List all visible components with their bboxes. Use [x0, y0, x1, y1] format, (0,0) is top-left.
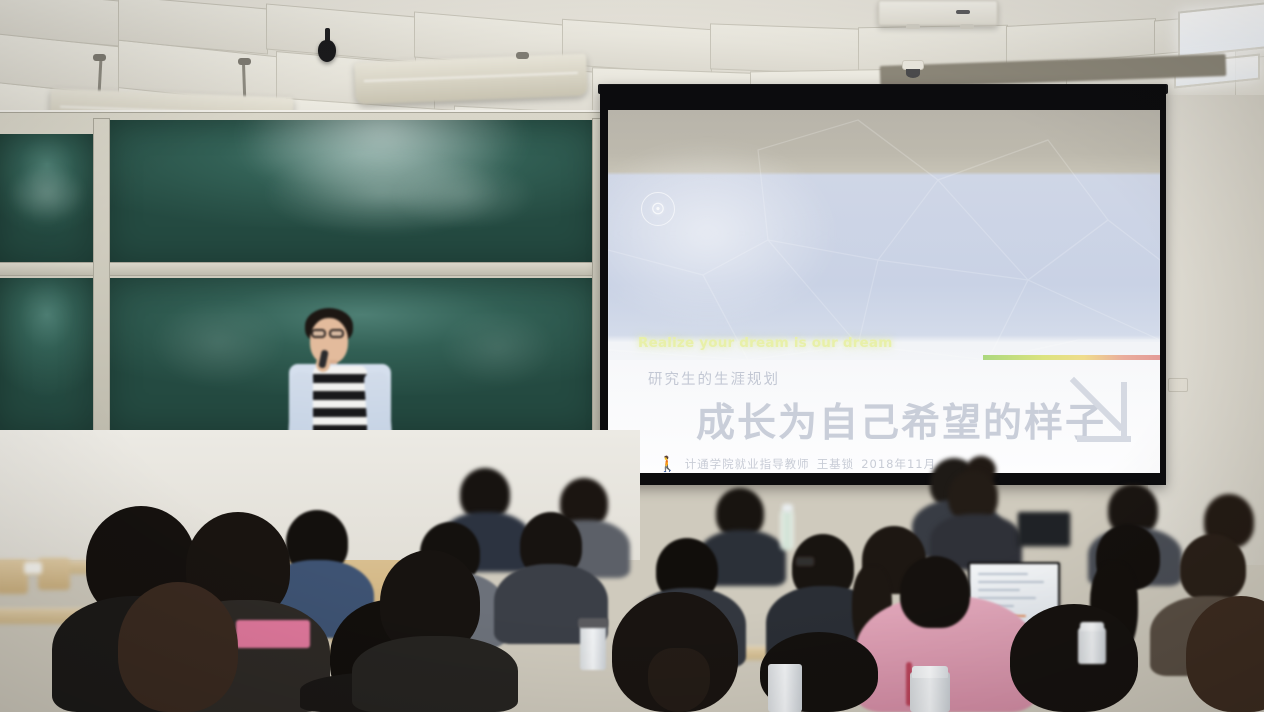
wall-outlet-icon: [1168, 378, 1188, 392]
presenter-head: [310, 318, 348, 364]
empty-chair-2: [38, 558, 70, 590]
thermos-flask-icon-3: [1078, 628, 1106, 664]
ceiling-mounted-speaker-icon: [318, 40, 336, 62]
recessed-light-panel-icon: [1178, 0, 1264, 57]
slide-byline-name: 王基锁: [817, 456, 855, 472]
slide-byline-date: 2018年11月: [861, 456, 936, 472]
thermos-cap-1: [912, 666, 948, 678]
hanging-fluorescent-fixture-right: [354, 54, 587, 105]
laptop-icon-far: [1018, 512, 1070, 546]
thermos-flask-icon-1: [910, 672, 950, 712]
lecture-hall-photo: ☉ Realize your dream is our dream 研究生的生涯…: [0, 0, 1264, 712]
chalkboard-panel-bottom-left: [0, 278, 93, 430]
audience-head-mid-8: [1180, 534, 1246, 602]
audience-eyeglasses-icon: [795, 556, 815, 567]
projection-screen: ☉ Realize your dream is our dream 研究生的生涯…: [600, 85, 1166, 485]
eyeglasses-icon-right: [329, 329, 344, 338]
fixture-rod-cap-right: [238, 58, 251, 65]
projector-foot-a: [906, 24, 920, 29]
projector-lens-icon: [956, 10, 970, 14]
audience-head-front-8: [1010, 604, 1138, 712]
bottle-cap-audience-1: [782, 504, 793, 512]
presentation-slide: ☉ Realize your dream is our dream 研究生的生涯…: [608, 110, 1160, 473]
slide-subtitle: 研究生的生涯规划: [648, 368, 780, 389]
thermos-cap-3: [1080, 622, 1104, 631]
fixture-rod-cap-right2: [516, 52, 529, 59]
audience-ponytail-front: [648, 648, 710, 712]
slide-title: 成长为自己希望的样子: [696, 392, 1106, 448]
fixture-rod-cap-left: [93, 54, 106, 61]
arrow-down-right-icon: [1068, 375, 1136, 447]
pink-hoodie-head: [900, 556, 970, 628]
water-bottle-audience-1: [780, 510, 794, 550]
slide-byline-org: 计通学院就业指导教师: [685, 456, 810, 472]
walking-person-icon: 🚶: [658, 455, 678, 473]
thermos-flask-icon-4: [580, 624, 606, 670]
pink-item-on-desk: [236, 620, 310, 648]
eyeglasses-icon: [311, 329, 326, 338]
projector-foot-b: [960, 24, 974, 29]
slide-byline: 🚶 计通学院就业指导教师 王基锁 2018年11月: [658, 455, 936, 473]
thermos-cap-4: [578, 618, 608, 628]
ceiling-projector-icon: [878, 0, 998, 26]
university-seal-watermark-icon: ☉: [641, 192, 675, 226]
paper-on-desk: [24, 562, 42, 574]
chalkboard-panel-top-left: [0, 134, 93, 262]
chalkboard-panel-top-right: [108, 120, 596, 262]
audience-body-front-5: [352, 636, 518, 712]
dome-security-camera-icon: [906, 69, 920, 78]
audience-head-front-3: [118, 582, 238, 712]
slide-tagline: Realize your dream is our dream: [638, 335, 893, 351]
thermos-flask-icon-2: [768, 664, 802, 712]
